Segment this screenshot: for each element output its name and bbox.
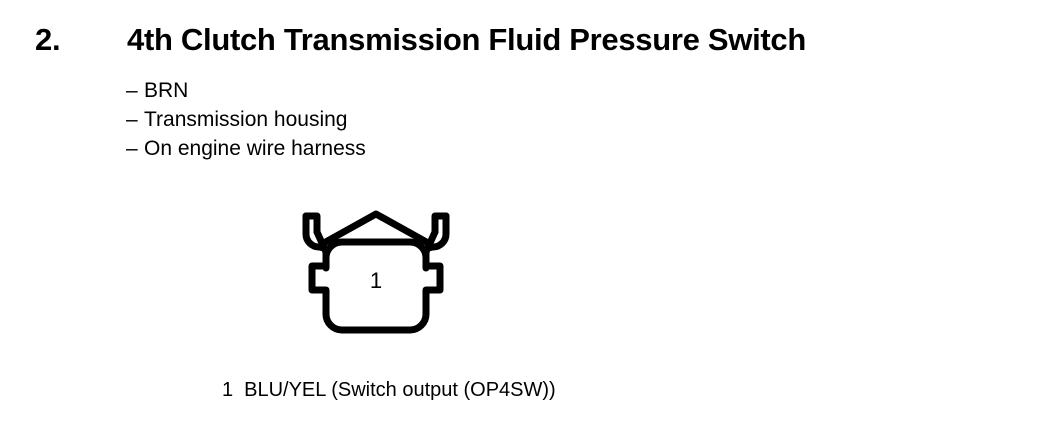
spec-item-label: BRN: [144, 76, 188, 105]
heading-title: 4th Clutch Transmission Fluid Pressure S…: [127, 22, 806, 58]
dash-bullet-icon: –: [126, 134, 144, 163]
pin-legend-number: 1: [222, 379, 233, 402]
spec-item-label: Transmission housing: [144, 105, 347, 134]
heading-number: 2.: [35, 22, 127, 58]
spec-item-label: On engine wire harness: [144, 134, 366, 163]
spec-item-location: – Transmission housing: [126, 105, 366, 134]
pin-legend: 1 BLU/YEL (Switch output (OP4SW)): [222, 379, 556, 402]
connector-pin-number: 1: [286, 270, 466, 292]
dash-bullet-icon: –: [126, 76, 144, 105]
pin-legend-description: BLU/YEL (Switch output (OP4SW)): [244, 379, 556, 402]
spec-item-harness: – On engine wire harness: [126, 134, 366, 163]
spec-list: – BRN – Transmission housing – On engine…: [126, 76, 366, 163]
page-title: 2. 4th Clutch Transmission Fluid Pressur…: [35, 22, 806, 58]
connector-diagram: 1: [286, 198, 466, 343]
dash-bullet-icon: –: [126, 105, 144, 134]
document-page: 2. 4th Clutch Transmission Fluid Pressur…: [0, 0, 1056, 436]
spec-item-wire-color: – BRN: [126, 76, 366, 105]
pin-legend-row: 1 BLU/YEL (Switch output (OP4SW)): [222, 379, 556, 402]
